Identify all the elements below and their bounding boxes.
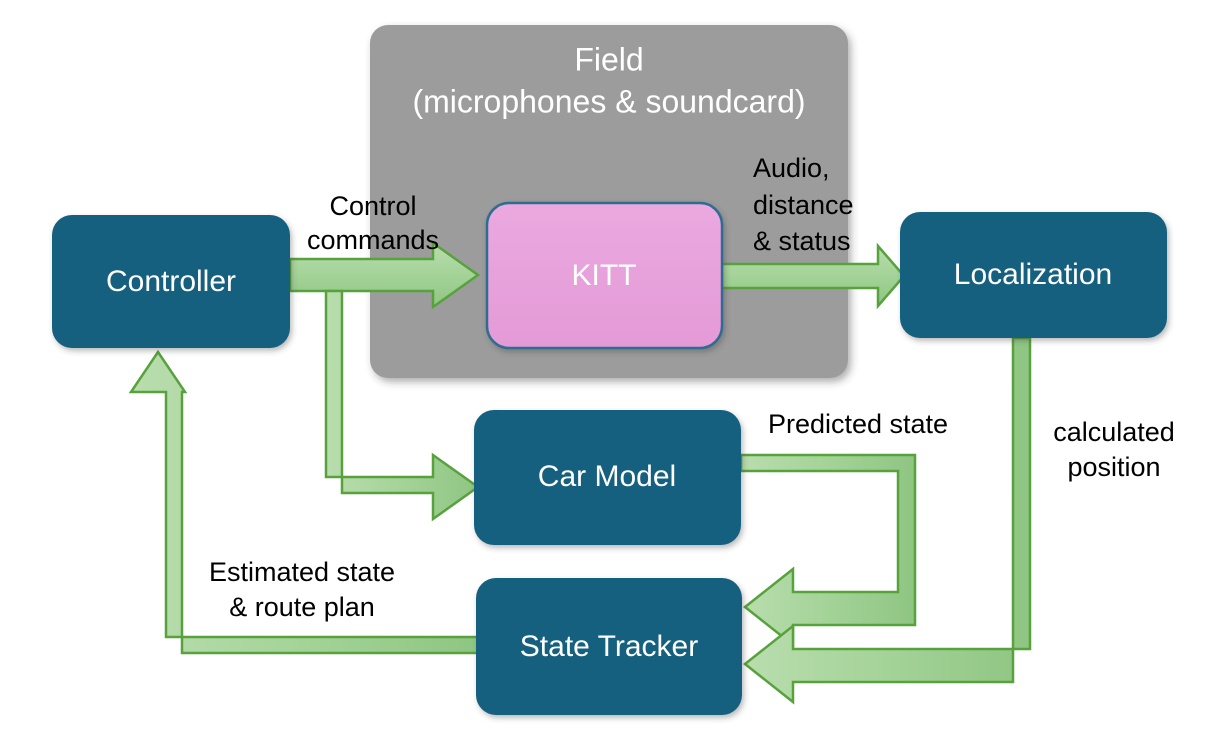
state-tracker-node-label: State Tracker [520, 630, 698, 663]
diagram-canvas: Field (microphones & soundcard) [0, 0, 1224, 756]
car-model-node-label: Car Model [538, 460, 676, 493]
edge-label-line: distance [753, 190, 854, 220]
kitt-node-label: KITT [572, 259, 637, 292]
edge-label-car-model-to-state-tracker: Predicted state [768, 409, 948, 439]
edge-label-line: Control [329, 191, 416, 221]
edge-localization-to-state-tracker [745, 338, 1030, 702]
edge-label-line: & status [753, 226, 851, 256]
localization-node-label: Localization [954, 258, 1112, 291]
field-group-subtitle: (microphones & soundcard) [412, 83, 805, 119]
controller-node[interactable]: Controller [52, 215, 290, 348]
edge-label-localization-to-state-tracker: calculated position [1053, 417, 1175, 482]
edge-car-model-to-state-tracker [741, 455, 915, 645]
controller-node-label: Controller [106, 265, 236, 298]
arrow-localization-to-state-tracker [745, 338, 1030, 702]
edge-label-line: Audio, [753, 153, 830, 183]
arrow-car-model-to-state-tracker [741, 455, 915, 645]
edge-label-line: calculated [1053, 417, 1175, 447]
edge-label-line: position [1067, 452, 1160, 482]
diagram-svg: Field (microphones & soundcard) [0, 0, 1224, 756]
edge-label-state-tracker-to-controller: Estimated state & route plan [209, 557, 395, 622]
kitt-node[interactable]: KITT [487, 203, 722, 348]
state-tracker-node[interactable]: State Tracker [476, 578, 742, 715]
localization-node[interactable]: Localization [900, 212, 1167, 338]
edge-label-line: & route plan [229, 592, 375, 622]
edge-label-line: Predicted state [768, 409, 948, 439]
edge-label-line: commands [307, 225, 439, 255]
edge-label-line: Estimated state [209, 557, 395, 587]
car-model-node[interactable]: Car Model [474, 410, 741, 545]
field-group-title: Field [574, 41, 643, 77]
